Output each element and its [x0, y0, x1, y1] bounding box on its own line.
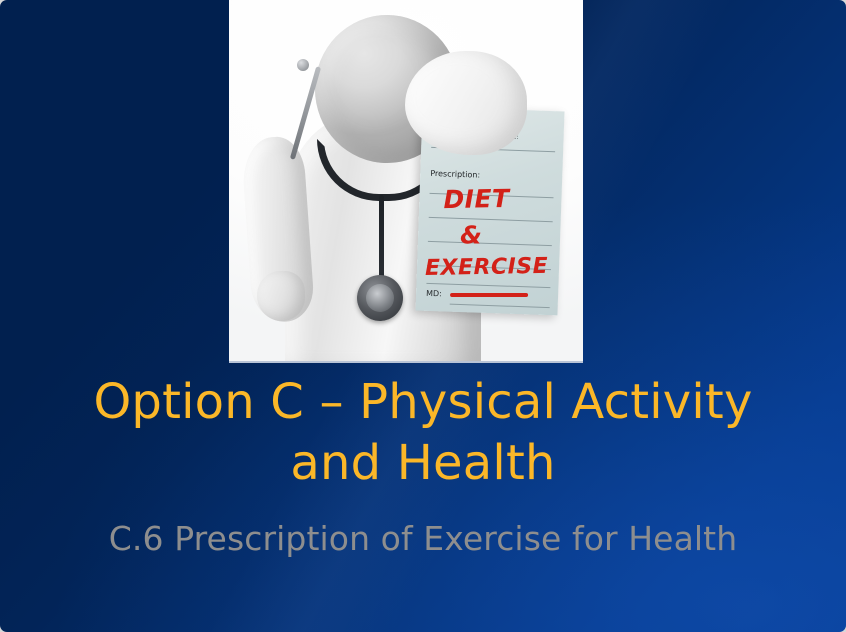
prescription-line-1: DIET: [443, 184, 510, 214]
slide-image: Rx Patient Name: Prescription: DIET & EX…: [229, 0, 583, 363]
figure-hand: [257, 271, 305, 321]
md-label: MD:: [426, 289, 442, 299]
prescription-line-3: EXERCISE: [425, 254, 549, 281]
stethoscope-chestpiece-icon: [357, 275, 403, 321]
prescription-label: Prescription:: [430, 169, 480, 180]
page-subtitle: C.6 Prescription of Exercise for Health: [90, 516, 756, 562]
title-slide: Rx Patient Name: Prescription: DIET & EX…: [0, 0, 846, 632]
prescription-line-2: &: [460, 220, 482, 249]
page-title: Option C – Physical Activity and Health: [90, 372, 756, 494]
figure-shoulder-overlap: [405, 51, 527, 155]
photo-stage: Rx Patient Name: Prescription: DIET & EX…: [229, 0, 583, 361]
slide-text-block: Option C – Physical Activity and Health …: [0, 372, 846, 562]
stethoscope-earpiece-left: [297, 59, 309, 71]
stethoscope-tube: [379, 195, 384, 287]
prescription-underline: [450, 293, 528, 297]
